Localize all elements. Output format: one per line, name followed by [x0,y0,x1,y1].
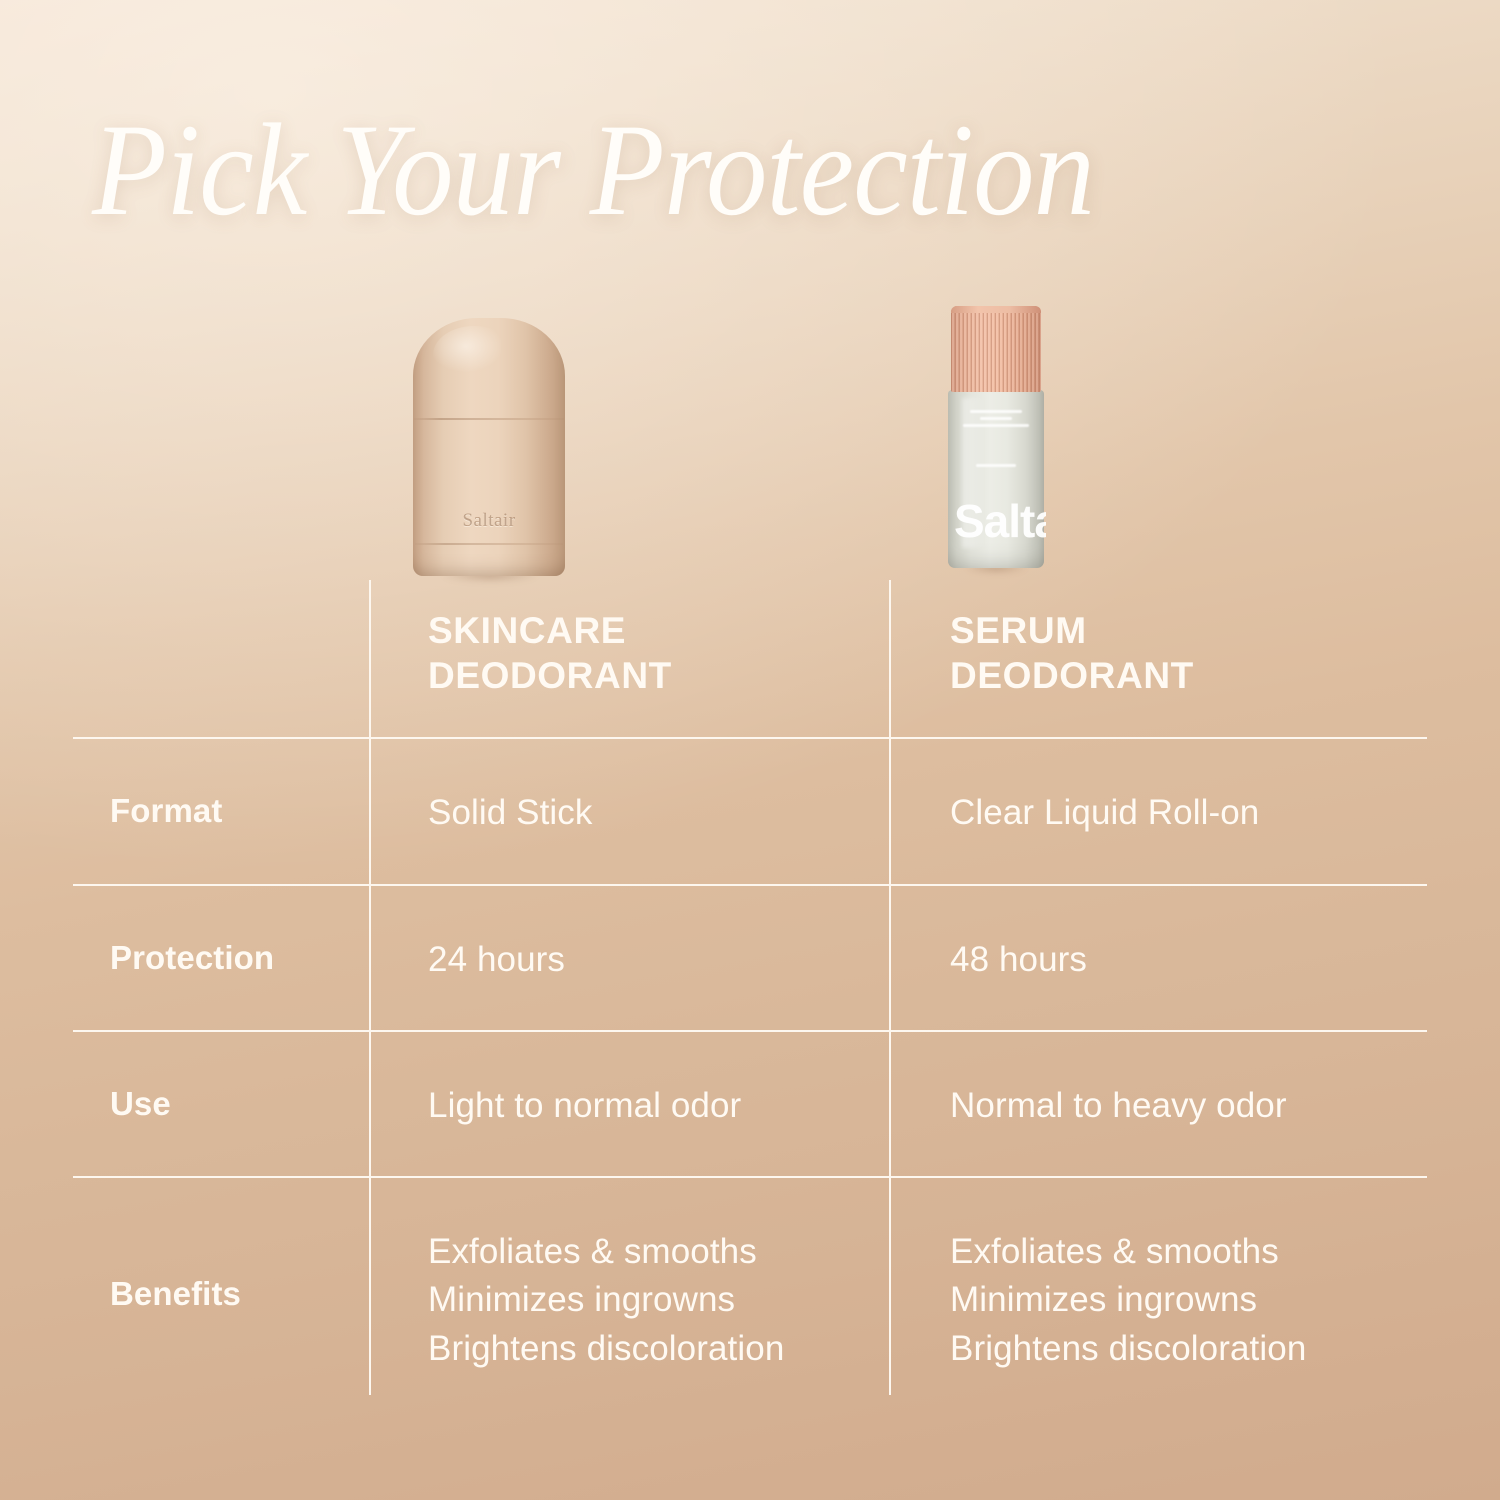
stick-base-seam [415,543,563,545]
serum-ribbed-cap [951,306,1041,392]
serum-label-text-block-bottom [958,464,1034,467]
column-header-skincare-deodorant: SKINCARE DEODORANT [428,608,858,698]
row-divider-2 [73,1030,1427,1032]
poster-canvas: Pick Your Protection Saltair Saltair [0,0,1500,1500]
stick-cap-seam [414,418,564,420]
row-label-use: Use [110,1085,171,1123]
stick-cap-highlight [433,326,515,384]
row-label-protection: Protection [110,939,274,977]
row-value-use-serum: Normal to heavy odor [950,1082,1420,1130]
column-header-serum-deodorant: SERUM DEODORANT [950,608,1390,698]
serum-brand-logo: Saltair [954,498,1046,544]
serum-label-text-block-top [958,410,1034,427]
row-divider-3 [73,1176,1427,1178]
row-divider-1 [73,884,1427,886]
column-divider-2 [889,580,891,1395]
stick-brand-logo: Saltair [413,510,565,532]
row-label-format: Format [110,792,222,830]
row-divider-header [73,737,1427,739]
page-title: Pick Your Protection [92,104,1094,236]
product-image-skincare-deodorant: Saltair [413,318,565,580]
row-value-format-skincare: Solid Stick [428,789,868,837]
row-value-benefits-skincare: Exfoliates & smooths Minimizes ingrowns … [428,1228,878,1373]
serum-cap-top [951,306,1041,313]
row-value-format-serum: Clear Liquid Roll-on [950,789,1420,837]
row-value-protection-skincare: 24 hours [428,936,868,984]
column-divider-1 [369,580,371,1395]
product-image-serum-deodorant: Saltair [948,306,1044,572]
row-value-use-skincare: Light to normal odor [428,1082,868,1130]
row-value-protection-serum: 48 hours [950,936,1420,984]
row-value-benefits-serum: Exfoliates & smooths Minimizes ingrowns … [950,1228,1420,1373]
row-label-benefits: Benefits [110,1275,241,1313]
